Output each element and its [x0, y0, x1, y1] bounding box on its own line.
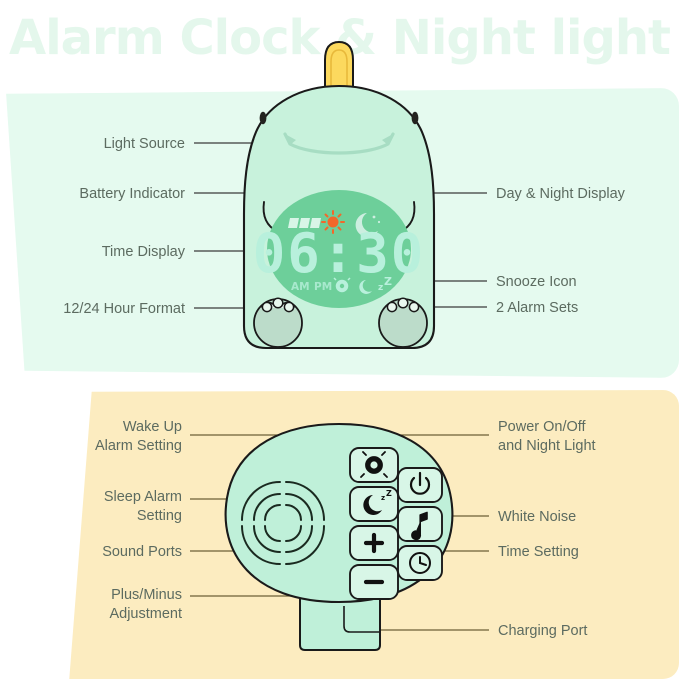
label-sound-ports: Sound Ports	[0, 543, 182, 562]
light-source-nub	[325, 42, 353, 88]
sleep-alarm-button[interactable]: z Z	[350, 487, 398, 521]
wake-alarm-button[interactable]	[350, 448, 398, 482]
label-12-24-hour-format: 12/24 Hour Format	[0, 300, 185, 319]
label-battery-indicator: Battery Indicator	[0, 185, 185, 204]
label-light-source: Light Source	[0, 135, 185, 154]
infographic-stage: Alarm Clock & Night light	[0, 0, 679, 679]
label-white-noise: White Noise	[498, 508, 678, 527]
plus-button[interactable]	[350, 526, 398, 560]
label-time-setting: Time Setting	[498, 543, 678, 562]
label-day-night-display: Day & Night Display	[496, 185, 676, 204]
label-power-on-off-night-light: Power On/Off and Night Light	[498, 418, 678, 455]
right-foot	[379, 298, 427, 347]
lcd-pm-label: PM	[314, 281, 332, 293]
power-night-light-button[interactable]	[398, 468, 442, 502]
lcd-am-label: AM	[291, 281, 310, 293]
label-2-alarm-sets: 2 Alarm Sets	[496, 299, 676, 318]
minus-button[interactable]	[350, 565, 398, 599]
label-plus-minus-adjustment: Plus/Minus Adjustment	[0, 586, 182, 623]
lcd-time-text: 06:30	[253, 222, 426, 285]
right-eye	[412, 112, 419, 124]
diagram-artwork: 06:30 AM PM z Z	[0, 0, 679, 679]
time-setting-button[interactable]	[398, 546, 442, 580]
white-noise-button[interactable]	[398, 507, 442, 541]
left-eye	[260, 112, 267, 124]
back-panel-device: z Z	[226, 424, 453, 650]
label-snooze-icon: Snooze Icon	[496, 273, 676, 292]
right-button-column	[398, 468, 442, 580]
label-sleep-alarm-setting: Sleep Alarm Setting	[0, 488, 182, 525]
label-time-display: Time Display	[0, 243, 185, 262]
svg-text:Z: Z	[386, 489, 392, 498]
clock-character	[244, 42, 434, 348]
svg-text:z: z	[381, 494, 385, 502]
label-wake-up-alarm-setting: Wake Up Alarm Setting	[0, 418, 182, 455]
label-charging-port: Charging Port	[498, 622, 678, 641]
left-foot	[254, 298, 302, 347]
svg-text:Z: Z	[384, 275, 392, 288]
svg-text:z: z	[378, 283, 383, 293]
